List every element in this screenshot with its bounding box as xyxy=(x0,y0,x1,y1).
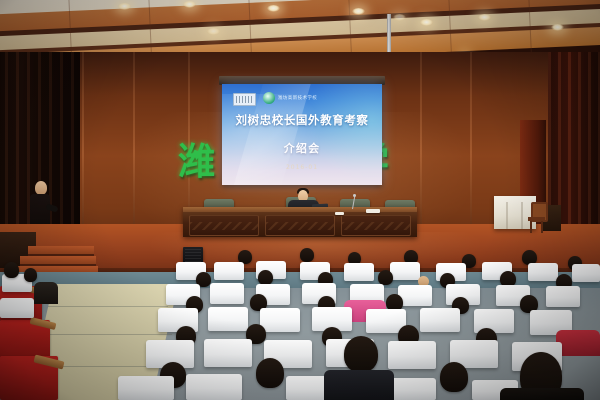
drape-fold xyxy=(521,202,523,229)
head-table-panel xyxy=(265,215,335,236)
wall-seam xyxy=(470,52,472,252)
white-chair-cover xyxy=(186,374,242,400)
white-chair-cover xyxy=(0,298,34,318)
slide-logo-text: 潍坊高新技术学校 xyxy=(278,95,317,101)
institution-emblem-icon xyxy=(233,93,256,106)
aisle-tile-line xyxy=(48,306,168,307)
aisle-tile-line xyxy=(44,334,172,335)
wall-sign-char-left: 潍 xyxy=(178,143,215,180)
white-chair-cover xyxy=(344,263,374,281)
chair-leg xyxy=(541,221,543,233)
microphone-icon xyxy=(353,194,356,197)
audience-shoulders xyxy=(34,282,58,304)
white-chair-cover xyxy=(420,308,460,332)
audience-head xyxy=(4,262,19,278)
wall-seam xyxy=(133,52,135,252)
wooden-chair xyxy=(528,202,545,232)
white-chair-cover xyxy=(388,341,436,369)
papers xyxy=(366,209,380,213)
side-person-head xyxy=(35,181,47,195)
white-chair-cover xyxy=(118,376,174,400)
downlight-icon xyxy=(420,19,433,26)
wall-seam xyxy=(420,52,422,252)
papers xyxy=(335,212,344,215)
white-chair-cover xyxy=(572,264,600,282)
downlight-icon xyxy=(478,14,491,21)
head-table-panel xyxy=(341,215,411,236)
drape-fold xyxy=(506,202,508,229)
downlight-icon xyxy=(551,24,564,31)
white-chair-cover xyxy=(208,307,248,331)
audience-head xyxy=(378,270,393,285)
audience-head xyxy=(24,268,37,282)
white-chair-cover xyxy=(204,339,252,367)
audience-shoulders-red xyxy=(556,330,600,356)
head-table-top xyxy=(183,207,417,212)
head-table xyxy=(183,207,417,237)
wall-seam xyxy=(82,52,84,252)
white-chair-cover xyxy=(210,283,244,304)
white-chair-cover xyxy=(546,286,580,307)
slide-subtitle: 介绍会 xyxy=(222,140,382,156)
audience-head xyxy=(440,362,468,392)
audience-head xyxy=(300,248,314,262)
slide-date: 2016-01 xyxy=(222,164,382,171)
slide-title: 刘树忠校长国外教育考察 xyxy=(222,112,382,128)
white-chair-cover xyxy=(398,285,432,306)
white-chair-cover xyxy=(528,263,558,281)
downlight-icon xyxy=(118,3,131,10)
auditorium-photo: 潍 学 潍坊高新技术学校 刘树忠校长国外教育考察 介绍会 2016-01 xyxy=(0,0,600,400)
green-circle-logo-icon xyxy=(263,92,275,104)
audience-shoulders xyxy=(500,388,584,400)
audience-head xyxy=(256,358,284,388)
white-chair-cover xyxy=(390,262,420,280)
projection-screen: 潍坊高新技术学校 刘树忠校长国外教育考察 介绍会 2016-01 xyxy=(222,84,382,185)
downlight-icon xyxy=(393,14,406,21)
chair-leg xyxy=(530,221,532,233)
white-chair-cover xyxy=(214,262,244,280)
downlight-icon xyxy=(352,8,365,15)
white-chair-cover xyxy=(260,308,300,332)
downlight-icon xyxy=(183,1,196,8)
downlight-icon xyxy=(267,5,280,12)
audience-head xyxy=(258,270,273,285)
audience-shoulders xyxy=(324,370,394,400)
head-table-panel xyxy=(189,215,259,236)
downlight-icon xyxy=(207,28,220,35)
audience-head-front xyxy=(344,336,378,372)
